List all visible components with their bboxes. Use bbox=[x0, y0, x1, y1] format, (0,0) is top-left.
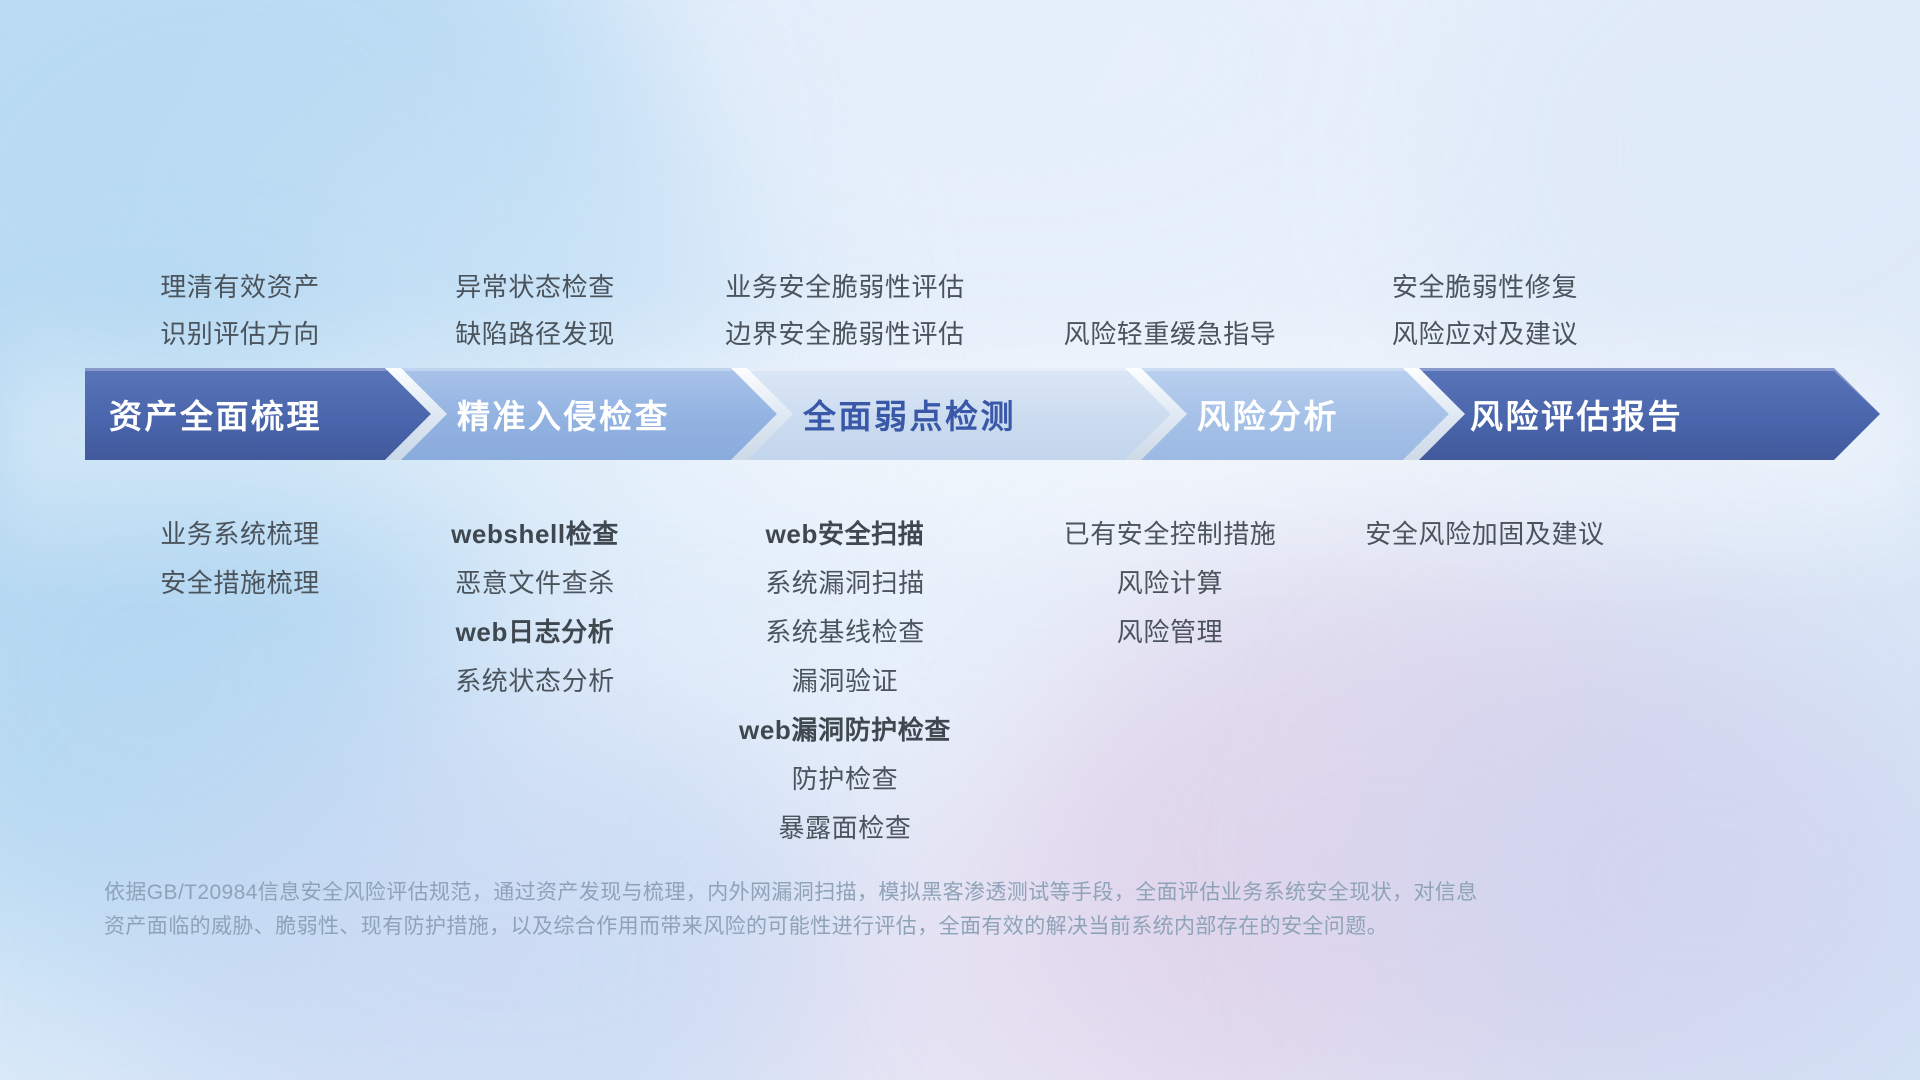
diagram-content: 理清有效资产 识别评估方向 业务系统梳理 安全措施梳理 异常状态检查 缺陷路径发… bbox=[0, 0, 1920, 1080]
stage-top-list: 风险轻重缓急指导 bbox=[1025, 311, 1315, 358]
stage-top-item: 异常状态检查 bbox=[385, 264, 685, 311]
stage-top-list: 异常状态检查 缺陷路径发现 bbox=[385, 264, 685, 358]
stage-bottom-item: 风险计算 bbox=[1025, 559, 1315, 608]
stage-bottom-item: web日志分析 bbox=[385, 608, 685, 657]
footer-line-1: 依据GB/T20984信息安全风险评估规范，通过资产发现与梳理，内外网漏洞扫描，… bbox=[104, 876, 1624, 910]
stage-top-item: 风险应对及建议 bbox=[1315, 311, 1655, 358]
stage-bottom-item: 漏洞验证 bbox=[680, 657, 1010, 706]
stage-bottom-item: 恶意文件查杀 bbox=[385, 559, 685, 608]
stage-bottom-item: 安全风险加固及建议 bbox=[1315, 510, 1655, 559]
stage-bottom-item: 暴露面检查 bbox=[680, 804, 1010, 853]
stage-top-item: 安全脆弱性修复 bbox=[1315, 264, 1655, 311]
arrow-shape-weakness-detection bbox=[747, 368, 1171, 460]
footer-description: 依据GB/T20984信息安全风险评估规范，通过资产发现与梳理，内外网漏洞扫描，… bbox=[104, 876, 1624, 944]
arrow-shape-intrusion-check bbox=[401, 368, 777, 460]
stage-bottom-item: 系统基线检查 bbox=[680, 608, 1010, 657]
stage-bottom-item: 安全措施梳理 bbox=[85, 559, 395, 608]
stage-bottom-item: 已有安全控制措施 bbox=[1025, 510, 1315, 559]
stage-bottom-item: web漏洞防护检查 bbox=[680, 706, 1010, 755]
stage-bottom-item: webshell检查 bbox=[385, 510, 685, 559]
stage-bottom-list: web安全扫描 系统漏洞扫描 系统基线检查 漏洞验证 web漏洞防护检查 防护检… bbox=[680, 510, 1010, 853]
stage-top-item: 理清有效资产 bbox=[85, 264, 395, 311]
arrow-shape-risk-analysis bbox=[1141, 368, 1449, 460]
stage-bottom-list: 业务系统梳理 安全措施梳理 bbox=[85, 510, 395, 608]
arrow-band-svg bbox=[85, 368, 1880, 460]
stage-top-list: 安全脆弱性修复 风险应对及建议 bbox=[1315, 264, 1655, 358]
arrow-shape-assessment-report bbox=[1419, 368, 1880, 460]
stage-bottom-list: 安全风险加固及建议 bbox=[1315, 510, 1655, 559]
stage-bottom-item: 防护检查 bbox=[680, 755, 1010, 804]
stage-top-item: 风险轻重缓急指导 bbox=[1025, 311, 1315, 358]
stage-bottom-item: 风险管理 bbox=[1025, 608, 1315, 657]
stage-top-list: 理清有效资产 识别评估方向 bbox=[85, 264, 395, 358]
stage-bottom-item: 系统漏洞扫描 bbox=[680, 559, 1010, 608]
slide-canvas: 理清有效资产 识别评估方向 业务系统梳理 安全措施梳理 异常状态检查 缺陷路径发… bbox=[0, 0, 1920, 1080]
stage-bottom-item: 业务系统梳理 bbox=[85, 510, 395, 559]
process-arrow-band bbox=[85, 368, 1880, 460]
stage-top-list: 业务安全脆弱性评估 边界安全脆弱性评估 bbox=[680, 264, 1010, 358]
arrow-shape-asset-inventory bbox=[85, 368, 431, 460]
stage-top-item: 缺陷路径发现 bbox=[385, 311, 685, 358]
stage-top-item: 边界安全脆弱性评估 bbox=[680, 311, 1010, 358]
stage-bottom-item: 系统状态分析 bbox=[385, 657, 685, 706]
stage-top-item: 识别评估方向 bbox=[85, 311, 395, 358]
stage-bottom-list: 已有安全控制措施 风险计算 风险管理 bbox=[1025, 510, 1315, 657]
stage-bottom-list: webshell检查 恶意文件查杀 web日志分析 系统状态分析 bbox=[385, 510, 685, 706]
stage-bottom-item: web安全扫描 bbox=[680, 510, 1010, 559]
footer-line-2: 资产面临的威胁、脆弱性、现有防护措施，以及综合作用而带来风险的可能性进行评估，全… bbox=[104, 910, 1624, 944]
stage-top-item: 业务安全脆弱性评估 bbox=[680, 264, 1010, 311]
